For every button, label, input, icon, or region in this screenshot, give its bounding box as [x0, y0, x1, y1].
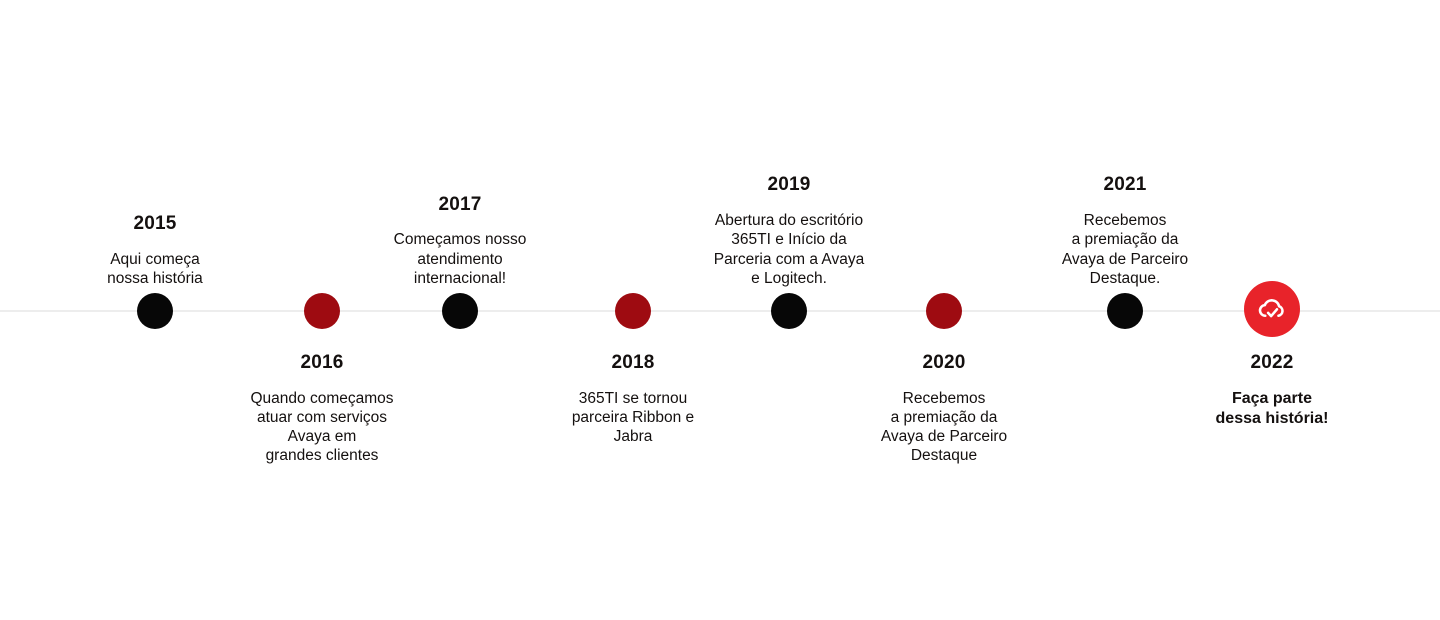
- timeline-entry-2019: 2019 Abertura do escritório 365TI e Iníc…: [654, 174, 924, 288]
- timeline-node-2016[interactable]: [304, 293, 340, 329]
- timeline-year-2019: 2019: [654, 174, 924, 197]
- timeline-desc-2018: 365TI se tornou parceira Ribbon e Jabra: [513, 389, 753, 447]
- timeline-year-2021: 2021: [1000, 174, 1250, 197]
- timeline-year-2016: 2016: [192, 352, 452, 375]
- timeline-node-2021[interactable]: [1107, 293, 1143, 329]
- timeline-year-2017: 2017: [335, 194, 585, 217]
- timeline-year-2020: 2020: [819, 352, 1069, 375]
- timeline-desc-2017: Começamos nosso atendimento internaciona…: [335, 230, 585, 288]
- timeline-node-2017[interactable]: [442, 293, 478, 329]
- timeline-year-2018: 2018: [513, 352, 753, 375]
- timeline-desc-2021: Recebemos a premiação da Avaya de Parcei…: [1000, 211, 1250, 288]
- timeline-desc-2020: Recebemos a premiação da Avaya de Parcei…: [819, 389, 1069, 466]
- timeline-entry-2022: 2022 Faça parte dessa história!: [1152, 352, 1392, 428]
- cloud-check-icon: [1255, 292, 1289, 326]
- timeline-node-2019[interactable]: [771, 293, 807, 329]
- timeline-entry-2018: 2018 365TI se tornou parceira Ribbon e J…: [513, 352, 753, 446]
- timeline-node-2022[interactable]: [1244, 281, 1300, 337]
- timeline-entry-2015: 2015 Aqui começa nossa história: [35, 213, 275, 288]
- timeline-node-2020[interactable]: [926, 293, 962, 329]
- timeline-entry-2021: 2021 Recebemos a premiação da Avaya de P…: [1000, 174, 1250, 288]
- timeline-desc-2022: Faça parte dessa história!: [1152, 389, 1392, 429]
- timeline-desc-2015: Aqui começa nossa história: [35, 250, 275, 288]
- timeline-entry-2020: 2020 Recebemos a premiação da Avaya de P…: [819, 352, 1069, 466]
- timeline-desc-2016: Quando começamos atuar com serviços Avay…: [192, 389, 452, 466]
- timeline-entry-2017: 2017 Começamos nosso atendimento interna…: [335, 194, 585, 288]
- timeline-infographic: 2015 Aqui começa nossa história 2016 Qua…: [0, 0, 1440, 620]
- timeline-entry-2016: 2016 Quando começamos atuar com serviços…: [192, 352, 452, 466]
- timeline-axis-line: [0, 310, 1440, 312]
- timeline-desc-2019: Abertura do escritório 365TI e Início da…: [654, 211, 924, 288]
- timeline-year-2022: 2022: [1152, 352, 1392, 375]
- timeline-year-2015: 2015: [35, 213, 275, 236]
- timeline-node-2015[interactable]: [137, 293, 173, 329]
- timeline-node-2018[interactable]: [615, 293, 651, 329]
